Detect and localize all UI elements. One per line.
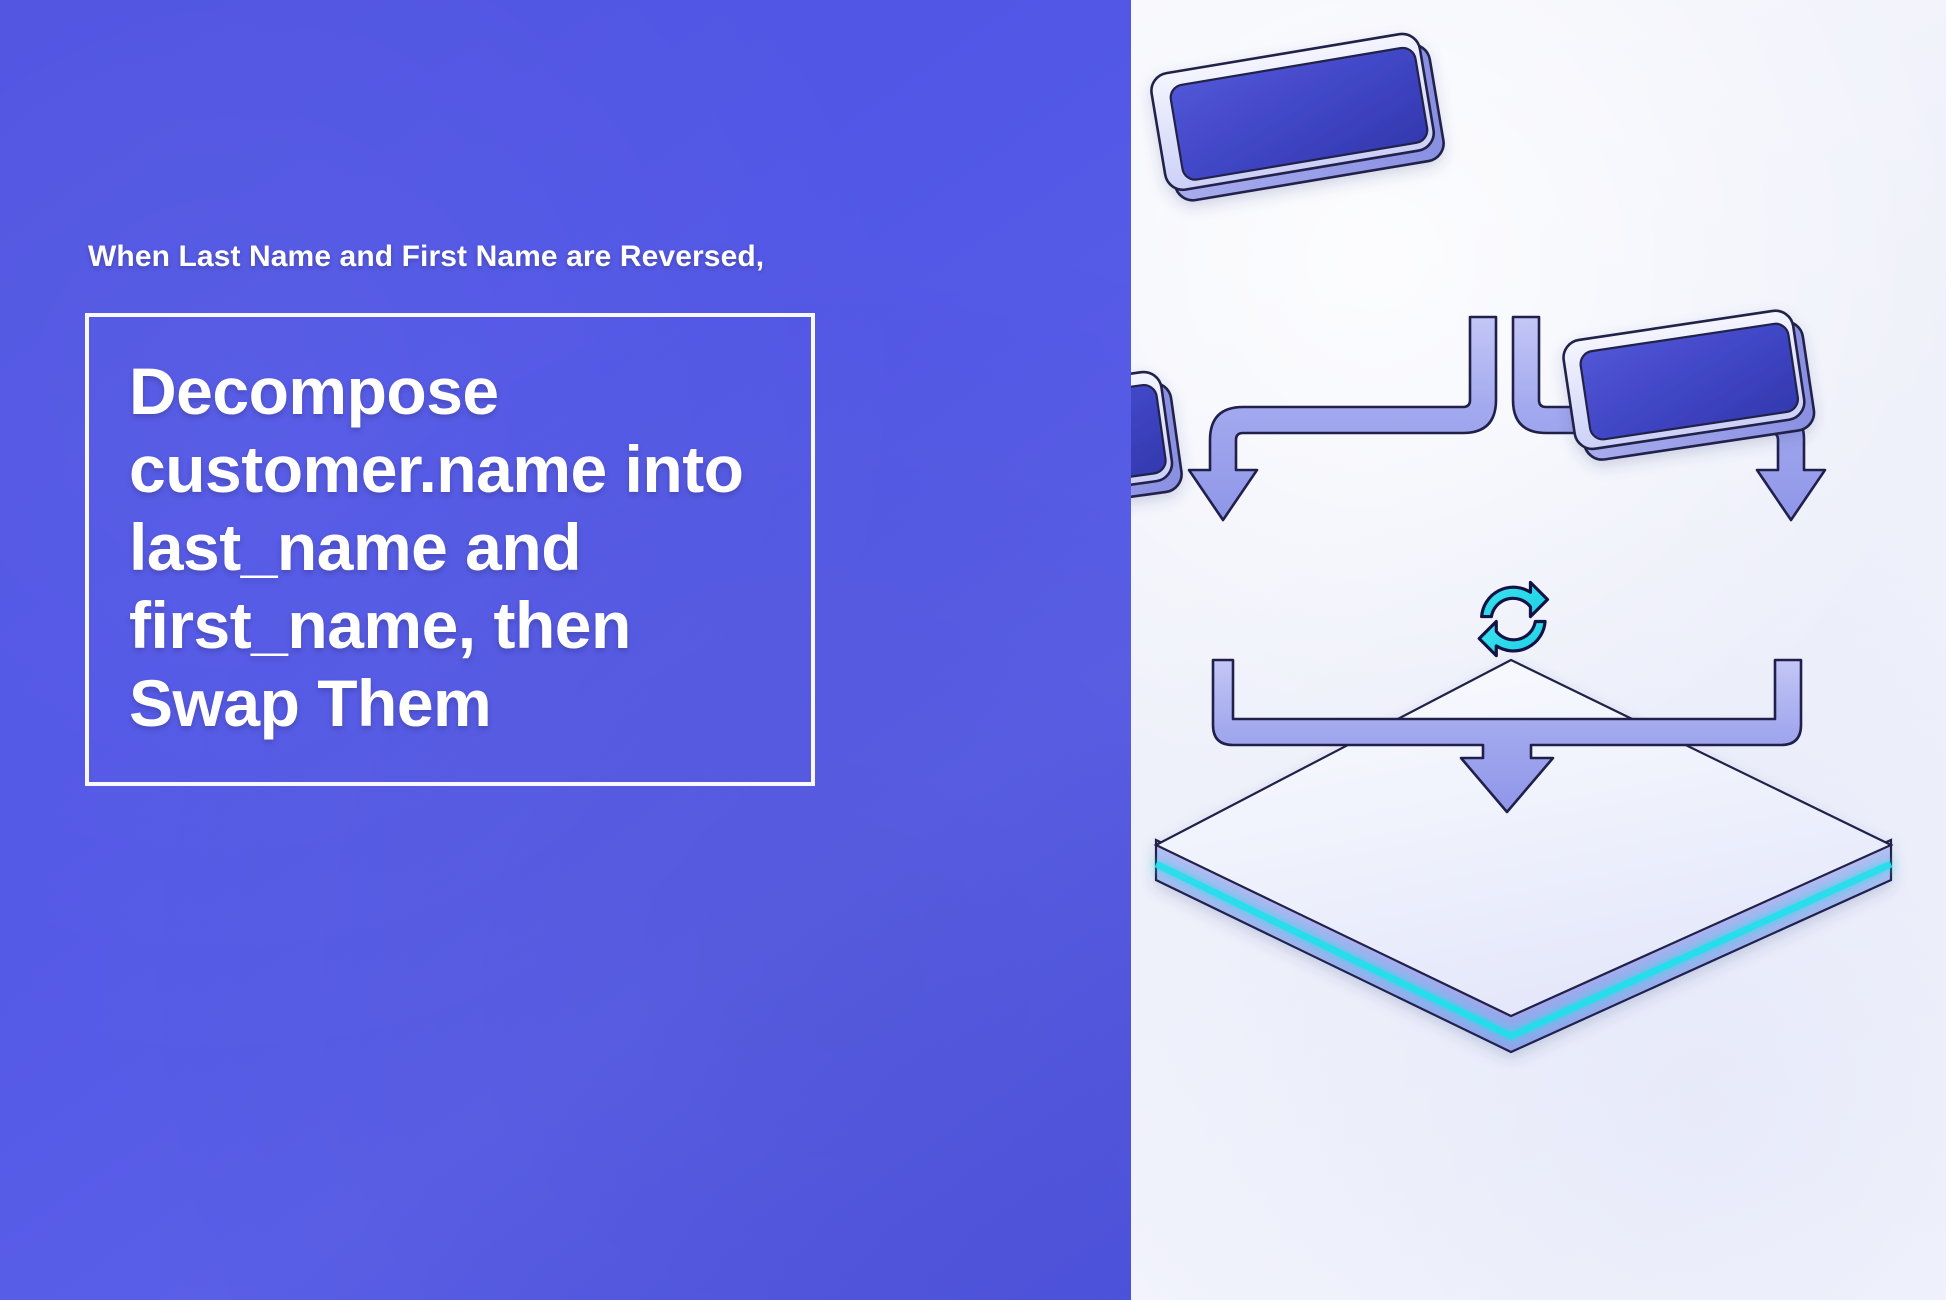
eyebrow-text: When Last Name and First Name are Revers… bbox=[88, 240, 888, 274]
right-diagram-panel: customer.name: "Smith John" last_name: "… bbox=[1131, 0, 1946, 1300]
swap-circular-arrows-icon bbox=[1479, 582, 1547, 655]
flow-diagram bbox=[1131, 0, 1946, 1300]
node-source bbox=[1149, 20, 1447, 204]
edge-source-to-last-name bbox=[1189, 317, 1496, 520]
left-text-panel: When Last Name and First Name are Revers… bbox=[0, 0, 1131, 1300]
node-last-name bbox=[1131, 369, 1184, 523]
headline-frame: Decompose customer.name into last_name a… bbox=[85, 313, 815, 786]
page-title: Decompose customer.name into last_name a… bbox=[129, 353, 799, 742]
slide-canvas: When Last Name and First Name are Revers… bbox=[0, 0, 1946, 1300]
